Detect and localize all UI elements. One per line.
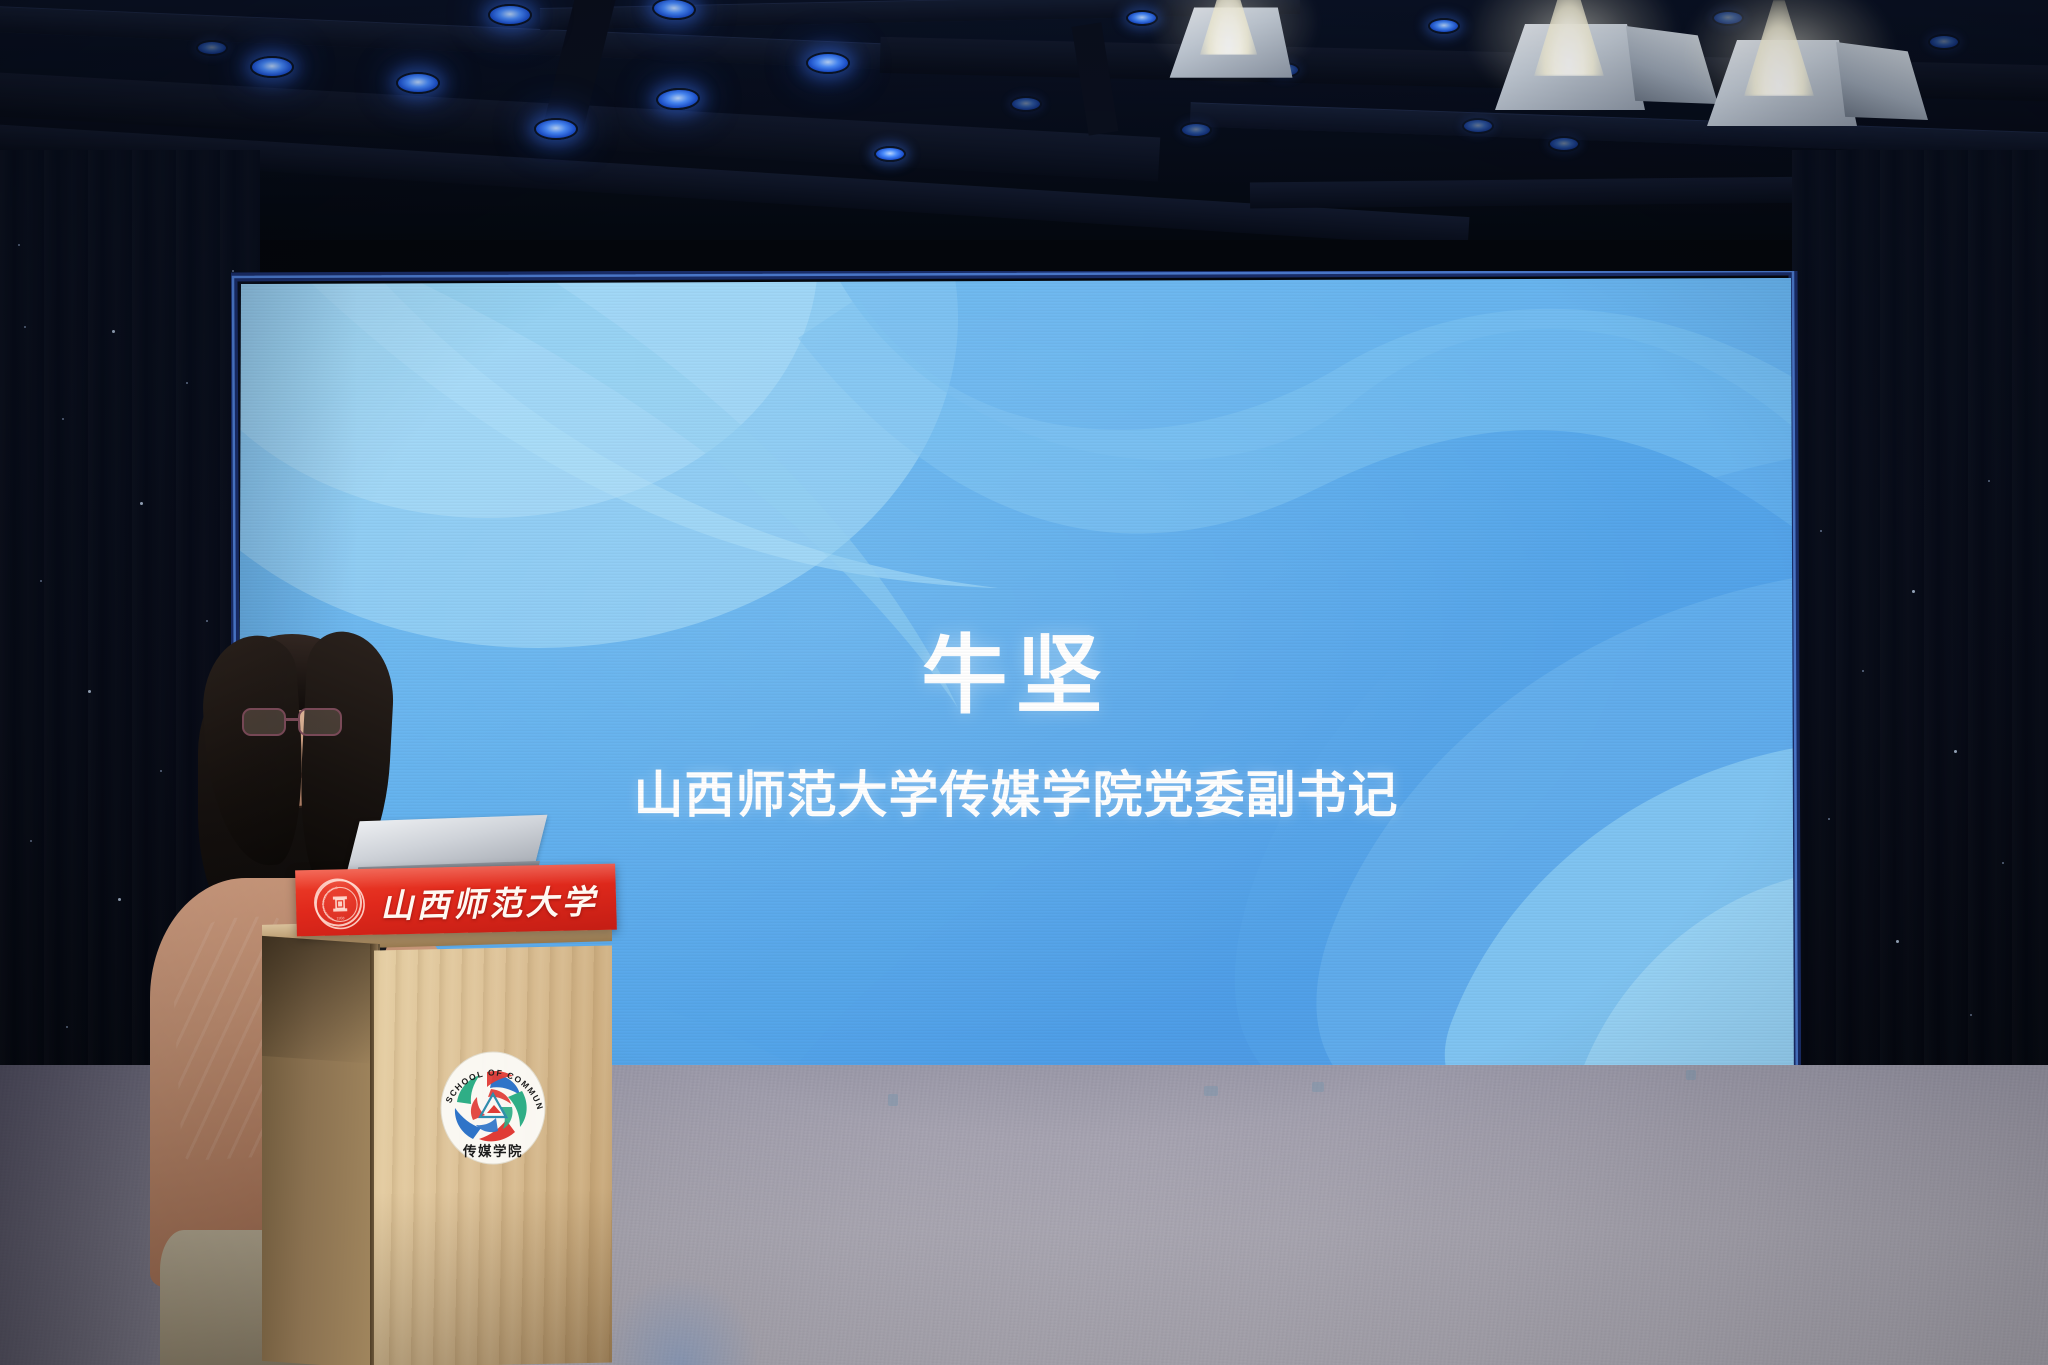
podium-name-banner: SHANXI NORMAL UNIVERSITY 1958 山西师范大学	[295, 864, 617, 937]
screen-base-fitting	[1686, 1070, 1696, 1080]
banner-label: 山西师范大学	[379, 875, 606, 928]
stage-curtain-right	[1792, 150, 2048, 1150]
par-light-icon	[488, 4, 532, 26]
eyeglasses-icon	[242, 708, 346, 738]
par-light-icon	[1010, 96, 1042, 112]
slide-speaker-title: 山西师范大学传媒学院党委副书记	[238, 770, 1794, 820]
svg-text:1958: 1958	[336, 916, 344, 920]
par-light-icon	[534, 118, 578, 140]
par-light-icon	[1428, 18, 1460, 34]
university-seal-icon: SHANXI NORMAL UNIVERSITY 1958	[313, 878, 362, 927]
par-light-icon	[1928, 34, 1960, 50]
lectern-podium: SHANXI NORMAL UNIVERSITY 1958 山西师范大学	[262, 882, 612, 1365]
screen-base-fitting	[1312, 1082, 1324, 1092]
emblem-bottom-label: 传媒学院	[462, 1143, 523, 1159]
par-light-icon	[396, 72, 440, 94]
stage-scene: 牛坚 山西师范大学传媒学院党委副书记	[0, 0, 2048, 1365]
par-light-icon	[196, 40, 228, 56]
par-light-icon	[806, 52, 850, 74]
par-light-icon	[874, 146, 906, 162]
ceiling-rig	[0, 0, 2048, 240]
school-of-communication-emblem: SCHOOL OF COMMUNICATION 传媒学院	[434, 1034, 552, 1172]
par-light-icon	[1548, 136, 1580, 152]
par-light-icon	[1462, 118, 1494, 134]
par-light-icon	[1180, 122, 1212, 138]
par-light-icon	[250, 56, 294, 78]
screen-base-fitting	[888, 1094, 898, 1106]
screen-base-fitting	[1204, 1086, 1218, 1096]
slide-speaker-name: 牛坚	[238, 633, 1794, 719]
par-light-icon	[655, 87, 700, 111]
